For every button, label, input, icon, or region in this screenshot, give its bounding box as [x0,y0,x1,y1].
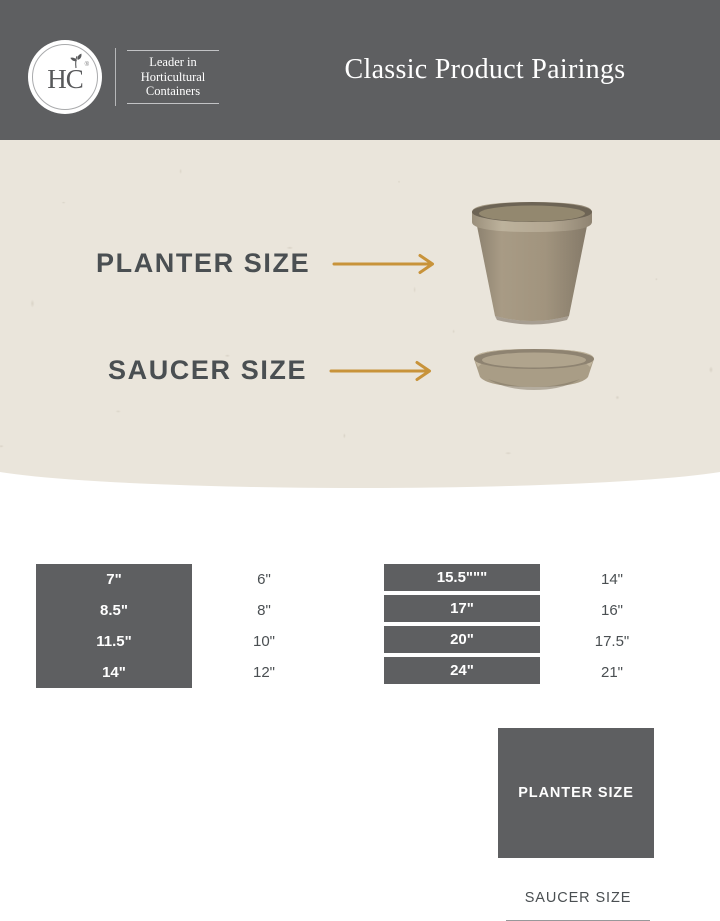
table-cell-planter: 17" [384,595,540,622]
column-planter-values: 7" 8.5" 11.5" 14" [36,564,192,688]
tagline-line-1: Leader in [141,55,206,70]
saucer-size-label: SAUCER SIZE [108,355,307,386]
table-header-row: PLANTER SIZE SAUCER SIZE [36,530,336,561]
table-cell-planter: 20" [384,626,540,653]
banner-row-saucer: SAUCER SIZE [108,355,441,386]
table-cell-planter: 14" [36,657,192,688]
table-cell-saucer: 10" [192,626,336,657]
table-body: 15.5""" 17" 20" 24" 14" 16" 17.5" 21" [384,564,684,688]
table-cell-saucer: 16" [540,595,684,626]
table-header-row: PLANTER SIZE SAUCER SIZE [384,530,684,561]
table-cell-saucer: 21" [540,657,684,688]
table-cell-planter: 8.5" [36,595,192,626]
column-header-saucer: SAUCER SIZE [506,875,650,921]
table-large-sizes: PLANTER SIZE SAUCER SIZE 15.5""" 17" 20"… [384,530,684,688]
brand-logo: HC ® Leader in Horticultural Containers [28,40,219,114]
arrow-right-icon [329,360,441,382]
column-saucer-values: 14" 16" 17.5" 21" [540,564,684,688]
logo-divider [115,48,116,106]
registered-mark: ® [85,62,89,68]
header-bar: HC ® Leader in Horticultural Containers … [0,0,720,140]
table-cell-saucer: 17.5" [540,626,684,657]
column-saucer-values: 6" 8" 10" 12" [192,564,336,688]
hc-logo-mark: HC ® [28,40,102,114]
column-header-planter: PLANTER SIZE [498,728,654,858]
logo-tagline: Leader in Horticultural Containers [127,50,219,104]
tagline-line-2: Horticultural [141,70,206,85]
column-planter-values: 15.5""" 17" 20" 24" [384,564,540,688]
page-title: Classic Product Pairings [250,0,720,140]
table-cell-saucer: 8" [192,595,336,626]
table-cell-planter: 11.5" [36,626,192,657]
table-cell-planter: 7" [36,564,192,595]
table-cell-saucer: 12" [192,657,336,688]
banner-texture-streaks [0,140,720,488]
saucer-dish-icon [470,345,598,391]
table-cell-saucer: 14" [540,564,684,595]
table-cell-saucer: 6" [192,564,336,595]
banner-background [0,140,720,488]
planter-pot-icon [462,198,602,328]
tagline-text: Leader in Horticultural Containers [141,51,206,103]
tagline-rule-bottom [127,103,219,104]
tagline-line-3: Containers [141,84,206,99]
size-tables-section: PLANTER SIZE SAUCER SIZE 7" 8.5" 11.5" 1… [0,490,720,720]
banner-row-planter: PLANTER SIZE [96,248,444,279]
logo-monogram: HC [47,66,83,93]
banner-section: PLANTER SIZE SAUCER SIZE [0,140,720,490]
table-cell-planter: 15.5""" [384,564,540,591]
infographic-page: HC ® Leader in Horticultural Containers … [0,0,720,720]
table-cell-planter: 24" [384,657,540,684]
table-small-sizes: PLANTER SIZE SAUCER SIZE 7" 8.5" 11.5" 1… [36,530,336,688]
table-body: 7" 8.5" 11.5" 14" 6" 8" 10" 12" [36,564,336,688]
planter-size-label: PLANTER SIZE [96,248,310,279]
arrow-right-icon [332,253,444,275]
